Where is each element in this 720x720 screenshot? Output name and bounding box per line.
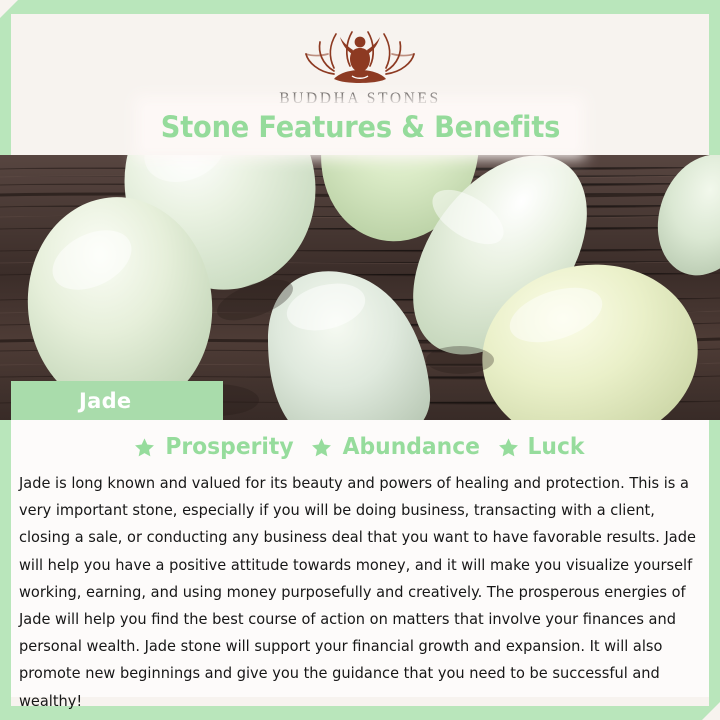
stone-info-poster: BUDDHA STONES Stone Features & Benefits bbox=[0, 0, 720, 720]
keyword-label: Luck bbox=[527, 434, 584, 460]
stone-name-badge: Jade bbox=[11, 381, 223, 420]
star-icon bbox=[311, 437, 332, 458]
keyword-label: Prosperity bbox=[166, 434, 294, 460]
star-icon bbox=[134, 437, 155, 458]
page-title: Stone Features & Benefits bbox=[160, 110, 559, 144]
lotus-meditation-icon bbox=[290, 26, 430, 88]
brand-logo: BUDDHA STONES bbox=[279, 26, 440, 108]
page-title-band: Stone Features & Benefits bbox=[145, 106, 575, 148]
star-icon bbox=[498, 437, 519, 458]
stone-name-label: Jade bbox=[79, 389, 131, 413]
content-panel: Prosperity Abundance Luck Jade bbox=[11, 420, 709, 697]
keyword-label: Abundance bbox=[343, 434, 480, 460]
keyword-row: Prosperity Abundance Luck bbox=[11, 426, 709, 468]
stone-description: Jade is long known and valued for its be… bbox=[19, 470, 696, 715]
keyword-item-abundance: Abundance bbox=[311, 434, 484, 460]
keyword-item-luck: Luck bbox=[498, 434, 586, 460]
keyword-item-prosperity: Prosperity bbox=[134, 434, 297, 460]
